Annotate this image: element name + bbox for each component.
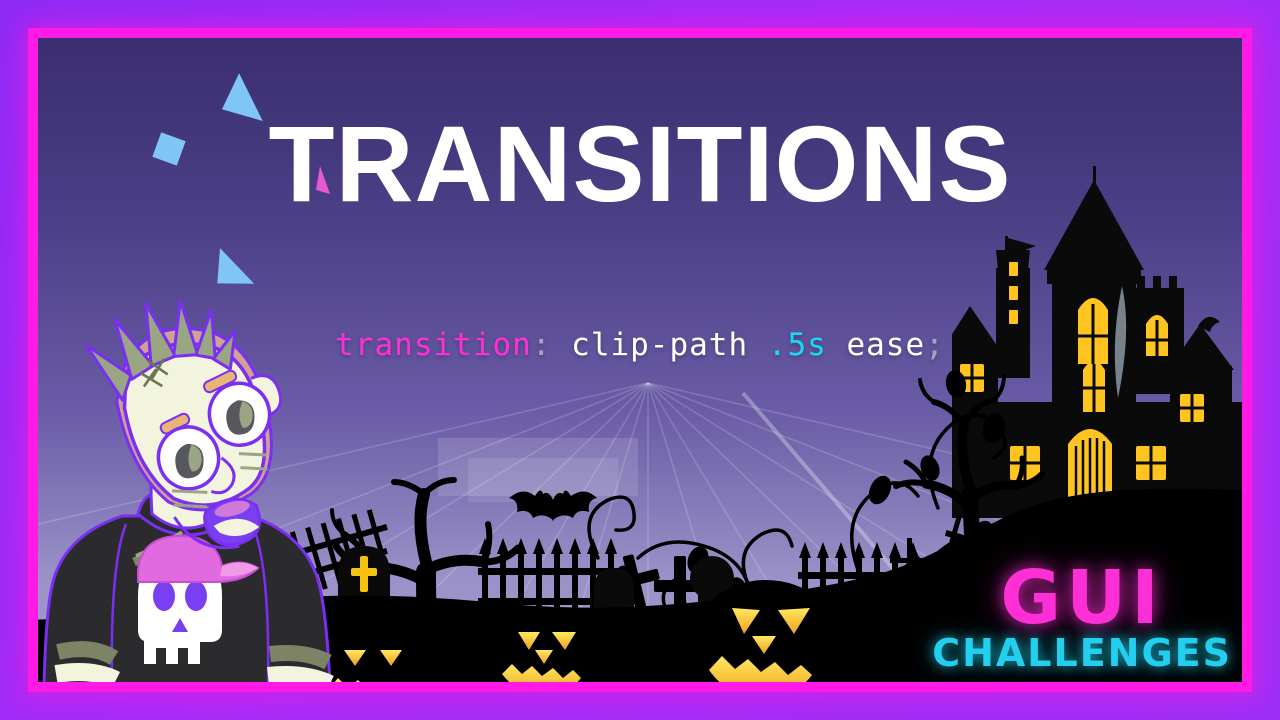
code-token-easing: ease (846, 327, 925, 363)
zombie-presenter-avatar (38, 266, 350, 682)
code-token-duration: .5s (768, 327, 827, 363)
jack-o-lantern-2 (485, 608, 601, 682)
code-snippet: transition: clip-path .5s ease; (38, 330, 1242, 361)
code-token-property: transition (335, 327, 532, 363)
video-thumbnail: TRANSITIONS transition: clip-path .5s ea… (0, 0, 1280, 720)
logo-line-gui: GUI (932, 564, 1232, 632)
code-token-semicolon: ; (925, 327, 945, 363)
code-token-colon: : (532, 327, 552, 363)
halloween-scene: TRANSITIONS transition: clip-path .5s ea… (38, 38, 1242, 682)
gui-challenges-logo: GUI CHALLENGES (932, 564, 1232, 672)
page-title: TRANSITIONS (38, 110, 1242, 218)
jack-o-lantern-3 (690, 580, 842, 682)
code-token-value: clip-path (571, 327, 748, 363)
logo-line-challenges: CHALLENGES (932, 634, 1232, 672)
